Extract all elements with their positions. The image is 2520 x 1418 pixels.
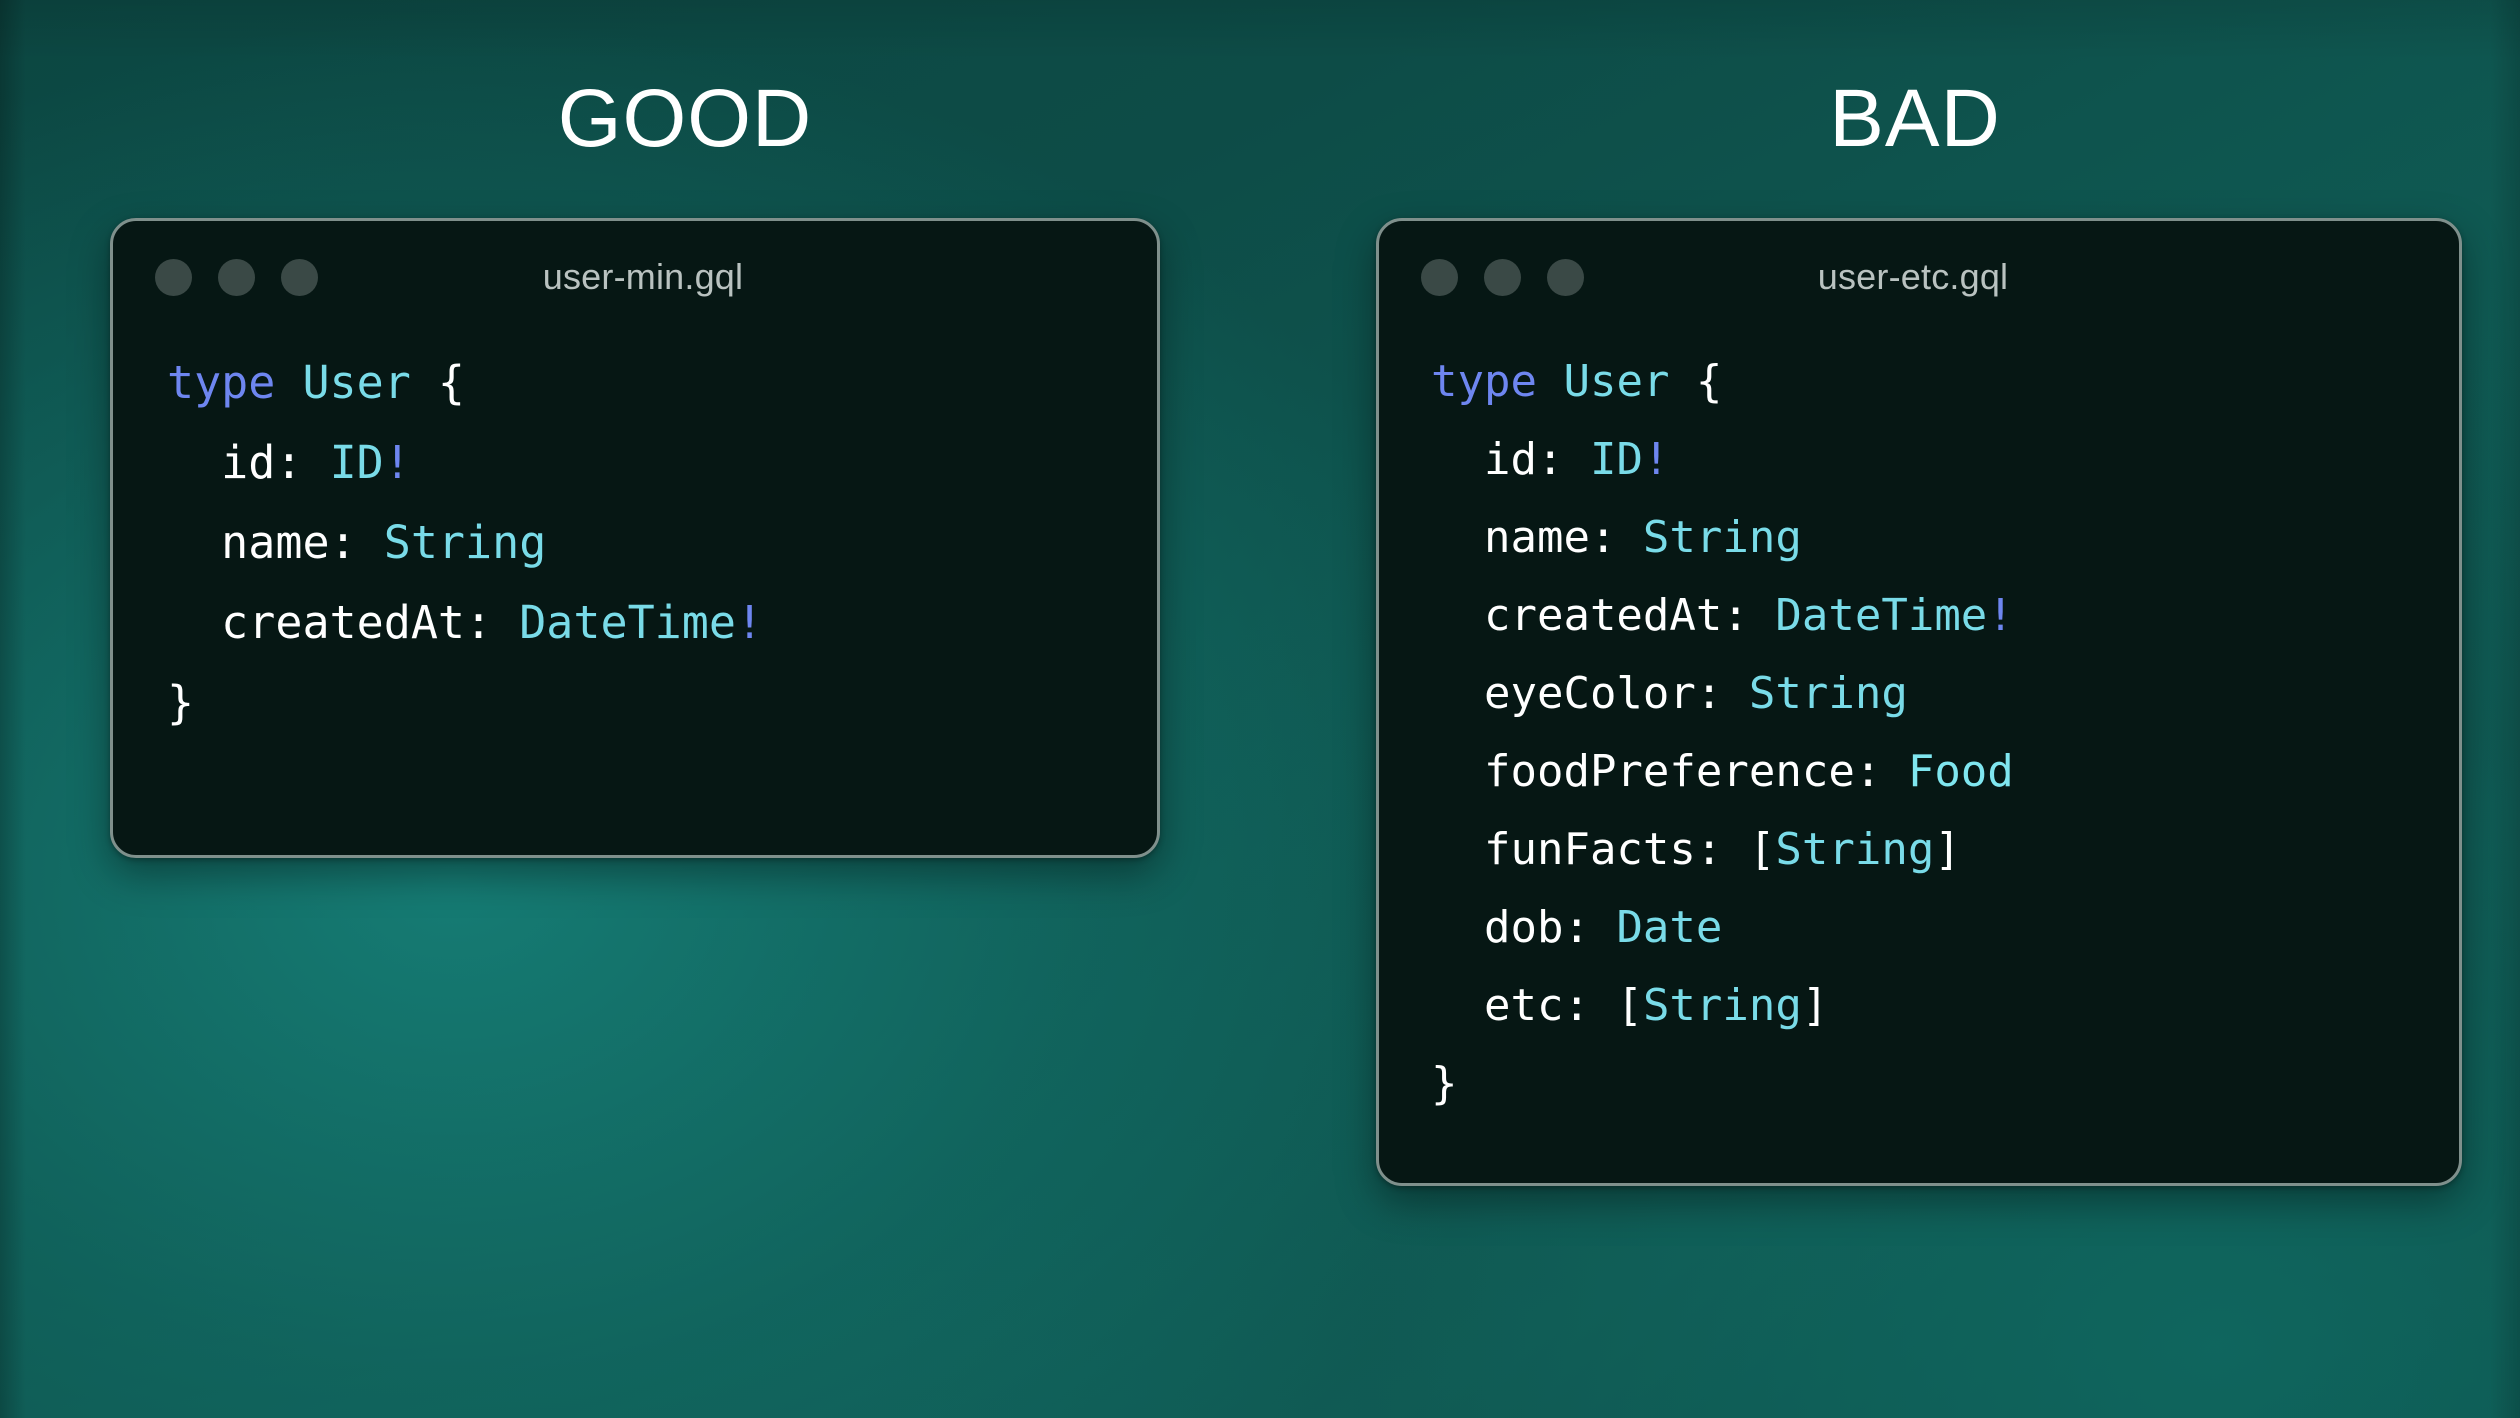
code-line: name: String bbox=[1379, 499, 2459, 577]
code-token-punc: { bbox=[411, 356, 465, 409]
code-token-type: ID bbox=[330, 436, 384, 489]
code-token-name: eyeColor: bbox=[1431, 668, 1749, 719]
code-token-type: ID bbox=[1590, 434, 1643, 485]
code-line: foodPreference: Food bbox=[1379, 733, 2459, 811]
code-token-kw: type bbox=[167, 356, 275, 409]
code-token-bang: ! bbox=[1987, 590, 2014, 641]
code-token-punc bbox=[275, 356, 302, 409]
code-line: etc: [String] bbox=[1379, 967, 2459, 1045]
code-token-type: String bbox=[1749, 668, 1908, 719]
code-token-type: String bbox=[1643, 512, 1802, 563]
code-token-name: foodPreference: bbox=[1431, 746, 1908, 797]
code-token-type: DateTime bbox=[1775, 590, 1987, 641]
code-token-punc: { bbox=[1669, 356, 1722, 407]
code-token-name: id: bbox=[1431, 434, 1590, 485]
code-window-good[interactable]: user-min.gql type User { id: ID! name: S… bbox=[110, 218, 1160, 858]
code-line: name: String bbox=[113, 503, 1157, 583]
close-dot-icon[interactable] bbox=[155, 259, 192, 296]
minimize-dot-icon[interactable] bbox=[1484, 259, 1521, 296]
code-line: eyeColor: String bbox=[1379, 655, 2459, 733]
panel-heading-good: GOOD bbox=[558, 78, 813, 160]
code-token-name: etc: bbox=[1431, 980, 1616, 1031]
code-token-punc: } bbox=[1431, 1058, 1458, 1109]
code-block-good[interactable]: type User { id: ID! name: String created… bbox=[113, 333, 1157, 743]
maximize-dot-icon[interactable] bbox=[1547, 259, 1584, 296]
code-line: type User { bbox=[113, 343, 1157, 423]
code-line: funFacts: [String] bbox=[1379, 811, 2459, 889]
code-line: dob: Date bbox=[1379, 889, 2459, 967]
comparison-stage: GOOD user-min.gql type User { id: ID! na… bbox=[0, 0, 2520, 1418]
code-token-punc: [ bbox=[1749, 824, 1776, 875]
code-line: } bbox=[113, 663, 1157, 743]
code-token-name: createdAt: bbox=[1431, 590, 1775, 641]
code-token-type: User bbox=[1563, 356, 1669, 407]
code-token-type: String bbox=[1775, 824, 1934, 875]
code-token-punc: } bbox=[167, 676, 194, 729]
code-token-name: dob: bbox=[1431, 902, 1616, 953]
panel-heading-bad: BAD bbox=[1829, 78, 2001, 160]
code-token-type: Date bbox=[1616, 902, 1722, 953]
code-line: } bbox=[1379, 1045, 2459, 1123]
code-line: type User { bbox=[1379, 343, 2459, 421]
code-line: id: ID! bbox=[1379, 421, 2459, 499]
code-token-name: name: bbox=[167, 516, 384, 569]
close-dot-icon[interactable] bbox=[1421, 259, 1458, 296]
code-token-punc bbox=[1537, 356, 1564, 407]
code-window-bad[interactable]: user-etc.gql type User { id: ID! name: S… bbox=[1376, 218, 2462, 1186]
code-line: createdAt: DateTime! bbox=[113, 583, 1157, 663]
code-token-type: User bbox=[302, 356, 410, 409]
minimize-dot-icon[interactable] bbox=[218, 259, 255, 296]
code-token-name: name: bbox=[1431, 512, 1643, 563]
code-token-bang: ! bbox=[384, 436, 411, 489]
code-token-enum: Food bbox=[1908, 746, 2014, 797]
code-token-type: DateTime bbox=[519, 596, 736, 649]
code-block-bad[interactable]: type User { id: ID! name: String created… bbox=[1379, 333, 2459, 1123]
code-token-name: createdAt: bbox=[167, 596, 519, 649]
code-token-name: id: bbox=[167, 436, 330, 489]
maximize-dot-icon[interactable] bbox=[281, 259, 318, 296]
window-controls-good bbox=[155, 259, 318, 296]
window-controls-bad bbox=[1421, 259, 1584, 296]
window-titlebar-good: user-min.gql bbox=[113, 221, 1157, 333]
code-line: createdAt: DateTime! bbox=[1379, 577, 2459, 655]
code-line: id: ID! bbox=[113, 423, 1157, 503]
code-token-punc: ] bbox=[1934, 824, 1961, 875]
code-token-type: String bbox=[1643, 980, 1802, 1031]
code-token-name: funFacts: bbox=[1431, 824, 1749, 875]
code-token-bang: ! bbox=[736, 596, 763, 649]
code-token-type: String bbox=[384, 516, 547, 569]
window-titlebar-bad: user-etc.gql bbox=[1379, 221, 2459, 333]
code-token-punc: ] bbox=[1802, 980, 1829, 1031]
code-token-kw: type bbox=[1431, 356, 1537, 407]
code-token-bang: ! bbox=[1643, 434, 1670, 485]
code-token-punc: [ bbox=[1616, 980, 1643, 1031]
